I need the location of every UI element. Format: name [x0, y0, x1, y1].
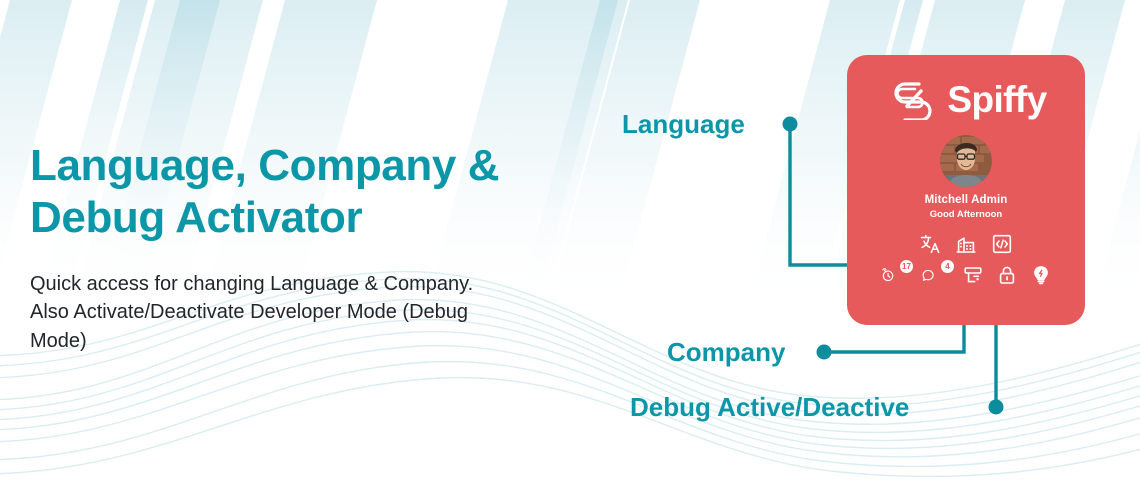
lightbulb-icon[interactable]	[1031, 265, 1051, 285]
spiffy-logo-icon	[885, 78, 939, 120]
lock-icon[interactable]	[997, 265, 1017, 285]
timer-badge: 17	[900, 260, 913, 273]
secondary-icon-row: 17 4	[881, 264, 1051, 286]
translate-icon[interactable]	[920, 234, 940, 254]
callout-label-debug: Debug Active/Deactive	[630, 392, 909, 423]
callout-label-company: Company	[667, 337, 785, 368]
code-debug-icon[interactable]	[992, 234, 1012, 254]
brand-header: Spiffy	[885, 77, 1046, 121]
callout-label-language: Language	[622, 109, 745, 140]
company-building-icon[interactable]	[956, 234, 976, 254]
avatar[interactable]	[940, 135, 992, 187]
brand-name: Spiffy	[947, 81, 1046, 118]
chat-badge: 4	[941, 260, 954, 273]
user-name: Mitchell Admin	[925, 194, 1008, 206]
chat-bubble-icon[interactable]: 4	[922, 264, 949, 286]
activity-filter-icon[interactable]	[963, 265, 983, 285]
avatar-photo	[940, 135, 992, 187]
user-greeting: Good Afternoon	[930, 209, 1002, 220]
spiffy-user-card: Spiffy	[847, 55, 1085, 325]
primary-icon-row	[920, 234, 1012, 254]
timer-icon[interactable]: 17	[881, 264, 908, 286]
